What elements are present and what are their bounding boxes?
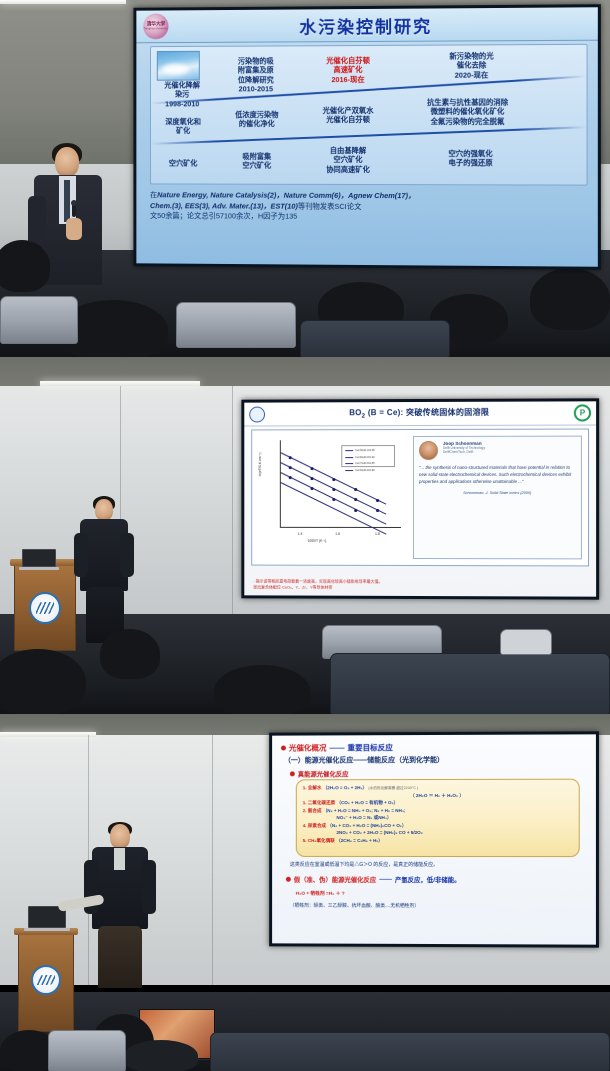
equation-row: 2NO₂ + CO₂ + 2H₂O = (NH₂)₂ CO + 5/2O₂: [303, 829, 573, 837]
eq-number: 4.: [303, 823, 307, 828]
quote-citation: Schoonman, J. Solid State Ionics (2000): [419, 491, 576, 495]
section-bullet-2: 假（准、伪）能源光催化反应——产氢反应，低/非储能。: [286, 875, 461, 884]
title-rest: (B = Ce): 突破传统固体的固溶限: [365, 408, 489, 417]
data-point: [311, 487, 313, 489]
slide-content: Ce0.9Gd0.1O1.95 Ce0.8Gd0.2O1.90 Ce0.7Gd0…: [251, 429, 589, 567]
institution-emblem-icon: [29, 592, 61, 624]
data-point: [311, 467, 313, 469]
table-cell: 低浓度污染物 的催化净化: [219, 110, 294, 129]
legend-label: Ce0.8Gd0.2O1.90: [355, 456, 374, 459]
quote-attribution: Joop Schoonman Delft University of Techn…: [443, 441, 485, 455]
table-cell: 空穴的强氧化 电子的强还原: [414, 149, 527, 168]
tsinghua-logo-icon: 清华大学 Tsinghua University: [143, 13, 168, 39]
data-point: [376, 509, 378, 511]
chart-axes: Ce0.9Gd0.1O1.95 Ce0.8Gd0.2O1.90 Ce0.7Gd0…: [280, 440, 401, 528]
table-cell: 新污染物的光 催化去除 2020-现在: [416, 51, 527, 80]
title-blue-part: 重要目标反应: [347, 742, 392, 753]
eq-body: （N₂ + CO₂ + H₂O = (NH₂)₂CO + O₂）: [327, 823, 406, 828]
right-hand: [66, 218, 82, 240]
wall-seam: [212, 735, 213, 985]
institution-emblem-icon: [31, 965, 61, 995]
audience-silhouette: [214, 665, 310, 714]
x-axis-label: 1000/T (K⁻¹): [308, 539, 327, 543]
seat: [0, 296, 78, 344]
title-red-part: 光催化概况: [289, 742, 327, 753]
photo-panel-2: BO2 (B = Ce): 突破传统固体的固溶限 P: [0, 357, 610, 714]
legend-label: Ce0.9Gd0.1O1.95: [355, 449, 374, 452]
data-point: [354, 488, 356, 490]
legend-label: Ce0.6Gd0.4O1.80: [355, 469, 374, 472]
data-point: [376, 499, 378, 501]
table-cell-highlight: 光催化自芬顿 高速矿化 2016-现在: [300, 56, 396, 84]
legend-swatch: [345, 450, 353, 451]
eq-number: 2.: [303, 808, 307, 813]
logo-subtext: Tsinghua University: [144, 28, 168, 31]
slide-note: · 指示该带相应禀电荷载着一浓度高，实现高化较高小插和电导率最大值。 显出复合体…: [253, 578, 587, 591]
bullet-icon: [290, 771, 295, 776]
collar: [114, 848, 125, 870]
right-arm: [120, 533, 134, 577]
data-point: [332, 488, 334, 490]
ceiling-light: [0, 732, 96, 737]
emblem-wave-mark: [36, 602, 54, 613]
eq-name: 氨合成: [308, 808, 322, 813]
legend-label: Ce0.7Gd0.3O1.85: [355, 462, 374, 465]
podium-2: [14, 563, 76, 651]
suffix: 等刊物发表SCI论文: [298, 201, 362, 210]
eq-body: （2CH₄ = C₂H₆ + H₂）: [336, 838, 383, 843]
necktie: [64, 180, 70, 222]
author-affiliation-2: DelftChemTech, Delft: [443, 450, 485, 454]
bullet-tail: 产氢反应，低/非储能。: [395, 875, 461, 884]
bullet-label: 假（准、伪）能源光催化反应: [294, 875, 376, 884]
podium-3: [18, 932, 74, 1032]
journal-list-2: Chem.(3), EES(3), Adv. Mater.(13)，EST(10…: [150, 201, 298, 211]
audience-silhouette: [100, 629, 160, 679]
equation-row: 5. CH₄氧化偶联 （2CH₄ = C₂H₆ + H₂）: [303, 837, 573, 844]
head: [55, 147, 79, 177]
quote-header: Joop Schoonman Delft University of Techn…: [419, 441, 576, 460]
avatar: [419, 441, 438, 460]
data-point: [289, 466, 291, 468]
seat: [300, 320, 450, 357]
bullet-icon: [286, 877, 291, 882]
data-point: [311, 477, 313, 479]
audience-silhouette: [0, 649, 86, 714]
data-point: [289, 476, 291, 478]
legend-item: Ce0.8Gd0.2O1.90: [345, 455, 391, 459]
publication-summary: 在Nature Energy, Nature Catalysis(2)，Natu…: [150, 190, 588, 224]
audience-silhouette: [0, 240, 50, 292]
data-point: [332, 478, 334, 480]
arrhenius-chart: Ce0.9Gd0.1O1.95 Ce0.8Gd0.2O1.90 Ce0.7Gd0…: [258, 436, 407, 544]
slide-header: BO2 (B = Ce): 突破传统固体的固溶限 P: [244, 401, 596, 426]
table-cell: 光催化降解 染污 1998-2010: [153, 81, 212, 109]
quote-text: "... the synthesis of nano-structured ma…: [419, 465, 576, 486]
laptop-base: [24, 928, 70, 931]
right-arm: [142, 860, 156, 914]
projection-screen-1: 清华大学 Tsinghua University 水污染控制研究 光催化降解 染…: [133, 4, 600, 270]
eq-number: 1.: [303, 785, 307, 790]
photo-panel-3: 光催化概况——重要目标反应 （一）能源光催化反应——储能反应（光到化学能） 真能…: [0, 714, 610, 1071]
quote-card: Joop Schoonman Delft University of Techn…: [413, 436, 582, 560]
head: [95, 499, 113, 521]
laptop-base: [19, 567, 59, 570]
slide-water-pollution: 清华大学 Tsinghua University 水污染控制研究 光催化降解 染…: [136, 7, 597, 266]
eq-name: 尿素合成: [308, 823, 326, 828]
x-tick-label: 1.8: [375, 532, 380, 536]
slide-title: 光催化概况——重要目标反应: [281, 742, 393, 753]
bullet-icon: [281, 746, 286, 751]
audience-silhouette: [124, 1040, 198, 1071]
legs: [98, 926, 142, 988]
ceiling-light: [0, 0, 126, 4]
eq-body: NO₃⁻ + H₂O = N₂ 或NH₃）: [336, 815, 391, 820]
table-cell: 深度氧化和 矿化: [153, 117, 214, 135]
chart-legend: Ce0.9Gd0.1O1.95 Ce0.8Gd0.2O1.90 Ce0.7Gd0…: [341, 445, 395, 467]
slide-title: 水污染控制研究: [169, 11, 598, 39]
legend-item: Ce0.7Gd0.3O1.85: [345, 462, 391, 466]
legend-item: Ce0.6Gd0.4O1.80: [345, 468, 391, 472]
sky-photo: [157, 51, 200, 81]
eq-body: （N₂ + H₂O = NH₃ + O₂; N₂ + H₂ = NH₃;: [323, 808, 406, 813]
eq-body: （CO₂ + H₂O = 有机物 + O₂）: [336, 800, 398, 805]
group-logo-icon: P: [574, 404, 591, 421]
table-cell: 抗生素与抗性基因的消除 微塑料的催化氧化矿化 全氟污染物的完全脱氟: [404, 98, 531, 126]
table-cell: 吸附富集 空穴矿化: [219, 152, 294, 171]
eq-name: CH₄氧化偶联: [308, 838, 335, 843]
data-point: [332, 498, 334, 500]
data-point: [354, 498, 356, 500]
title-formula: BO: [349, 408, 362, 417]
seat: [176, 302, 296, 348]
data-point: [289, 456, 291, 458]
head: [110, 824, 130, 849]
eq-number: 5.: [303, 838, 307, 843]
legend-swatch: [345, 457, 353, 458]
seat-row: [210, 1032, 610, 1071]
legend-item: Ce0.9Gd0.1O1.95: [345, 449, 391, 453]
equation-row: 4. 尿素合成 （N₂ + CO₂ + H₂O = (NH₂)₂CO + O₂）: [303, 822, 573, 830]
microphone: [72, 203, 76, 217]
university-seal-icon: [249, 407, 265, 423]
wall-seam: [232, 386, 233, 622]
title-dash: ——: [329, 743, 344, 752]
laptop-screen: [22, 549, 56, 567]
y-axis-label: ln(σT/S K cm⁻¹): [258, 452, 262, 476]
table-cell: 自由基降解 空穴矿化 协同高速矿化: [298, 146, 398, 174]
seat: [48, 1030, 126, 1071]
audience-silhouette: [530, 268, 610, 330]
slide-subtitle: （一）能源光催化反应——储能反应（光到化学能）: [284, 755, 444, 765]
projection-screen-2: BO2 (B = Ce): 突破传统固体的固溶限 P: [241, 398, 599, 599]
journal-list-1: Nature Energy, Nature Catalysis(2)，Natur…: [157, 190, 415, 200]
bullet-label: 真能源光催化反应: [298, 769, 349, 778]
equation-box: 1. 全解水 （2H₂O = O₂ + 2H₂） (水的热化解离需 超过2200…: [296, 779, 580, 857]
table-cell: 空穴矿化: [153, 159, 214, 168]
eq-name: 全解水: [308, 785, 322, 790]
data-point: [354, 509, 356, 511]
legend-swatch: [345, 463, 353, 464]
emblem-wave-mark: [37, 975, 54, 985]
conclusion-text: 这类反应在室温或低温下均是△G＞O 的反应，是真正的储能反应。: [290, 861, 584, 868]
table-cell: 污染物的吸 附富集及原 位降解研究 2010-2015: [219, 56, 292, 93]
slide-header: 清华大学 Tsinghua University 水污染控制研究: [136, 7, 597, 43]
legend-swatch: [345, 470, 353, 471]
eq-body: 2NO₂ + CO₂ + 2H₂O = (NH₂)₂ CO + 5/2O₂: [336, 830, 422, 835]
eq-name: 二氧化碳还原: [308, 801, 335, 806]
divider-diagonal: [151, 126, 586, 145]
eq-note: (水的热化解离需 超过2200°C ): [368, 786, 418, 790]
summary-line-3: 文50余篇；论文总引57100余次，H因子为135: [150, 212, 588, 225]
slide-body: 光催化降解 染污 1998-2010 污染物的吸 附富集及原 位降解研究 201…: [146, 44, 590, 263]
note-line-2: 显出复合体配位 CeO₂、Y、Zr、Y等导体材密: [253, 584, 587, 591]
slide-bo2-solubility: BO2 (B = Ce): 突破传统固体的固溶限 P: [244, 401, 596, 596]
reaction-formula: H₂O + 牺牲剂 =H₂ ＋ ?: [296, 892, 345, 897]
x-tick-label: 1.4: [298, 532, 303, 536]
slide-title: BO2 (B = Ce): 突破传统固体的固溶限: [349, 407, 489, 420]
x-tick-label: 1.6: [335, 532, 340, 536]
sacrificial-reaction: H₂O + 牺牲剂 =H₂ ＋ ?: [296, 890, 345, 897]
table-cell: 光催化产双氧水 光催化自芬顿: [298, 106, 398, 125]
sacrificial-agents: （牺牲剂：醇类、三乙醇胺、抗坏血酸、酸类....无机牺牲剂）: [290, 902, 419, 909]
eq-body: （ 2H₂O ＝ H₂ ＋ H₂O₂ ）: [410, 793, 464, 798]
left-arm: [74, 533, 88, 577]
research-table: 光催化降解 染污 1998-2010 污染物的吸 附富集及原 位降解研究 201…: [150, 44, 588, 186]
eq-number: 1.: [303, 801, 307, 806]
projection-screen-3: 光催化概况——重要目标反应 （一）能源光催化反应——储能反应（光到化学能） 真能…: [269, 731, 599, 947]
seat: [500, 629, 552, 655]
seat-row: [330, 653, 610, 714]
bullet-dash: ——: [379, 876, 392, 883]
eq-body: （2H₂O = O₂ + 2H₂）: [323, 785, 367, 790]
slide-photocatalysis: 光催化概况——重要目标反应 （一）能源光催化反应——储能反应（光到化学能） 真能…: [272, 734, 596, 944]
photo-panel-1: 清华大学 Tsinghua University 水污染控制研究 光催化降解 染…: [0, 0, 610, 357]
section-bullet-1: 真能源光催化反应: [290, 769, 349, 778]
